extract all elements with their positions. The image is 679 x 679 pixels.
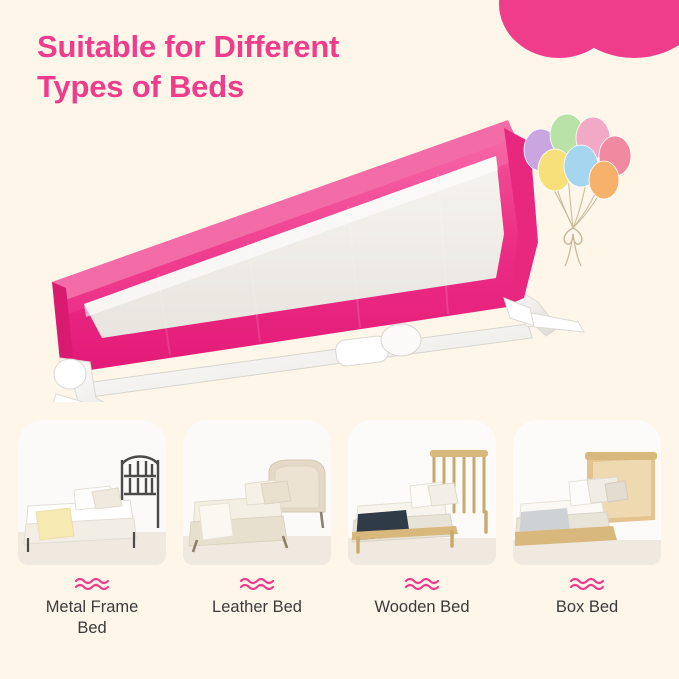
bed-type-label-line1: Box Bed xyxy=(556,598,618,616)
bed-type-card-leather[interactable]: Leather Bed xyxy=(183,420,331,670)
bed-type-card-list: Metal Frame Bed xyxy=(0,420,679,670)
bed-type-label-line1: Metal Frame xyxy=(46,598,139,616)
headline-line-1: Suitable for Different xyxy=(37,27,339,67)
metal-frame-bed-photo xyxy=(18,420,166,565)
bed-type-card-metal-frame[interactable]: Metal Frame Bed xyxy=(18,420,166,670)
balloon-bunch-icon xyxy=(511,108,641,268)
wave-divider-icon xyxy=(239,577,275,591)
bed-type-card-wooden[interactable]: Wooden Bed xyxy=(348,420,496,670)
headline-line-2: Types of Beds xyxy=(37,67,339,107)
bed-type-label: Wooden Bed xyxy=(374,597,469,618)
wave-divider-icon xyxy=(569,577,605,591)
bed-type-label-line2: Bed xyxy=(46,618,139,639)
wooden-bed-photo xyxy=(348,420,496,565)
bed-type-label: Box Bed xyxy=(556,597,618,618)
bed-type-label-line1: Wooden Bed xyxy=(374,598,469,616)
product-infographic: Suitable for Different Types of Beds xyxy=(0,0,679,679)
headline: Suitable for Different Types of Beds xyxy=(37,27,339,106)
bed-type-label: Leather Bed xyxy=(212,597,302,618)
pink-cloud-icon xyxy=(489,0,679,58)
bed-type-card-box[interactable]: Box Bed xyxy=(513,420,661,670)
bed-type-label: Metal Frame Bed xyxy=(46,597,139,638)
wave-divider-icon xyxy=(404,577,440,591)
bed-type-label-line1: Leather Bed xyxy=(212,598,302,616)
left-pivot-knob xyxy=(54,359,86,389)
leather-bed-photo xyxy=(183,420,331,565)
wave-divider-icon xyxy=(74,577,110,591)
box-bed-photo xyxy=(513,420,661,565)
